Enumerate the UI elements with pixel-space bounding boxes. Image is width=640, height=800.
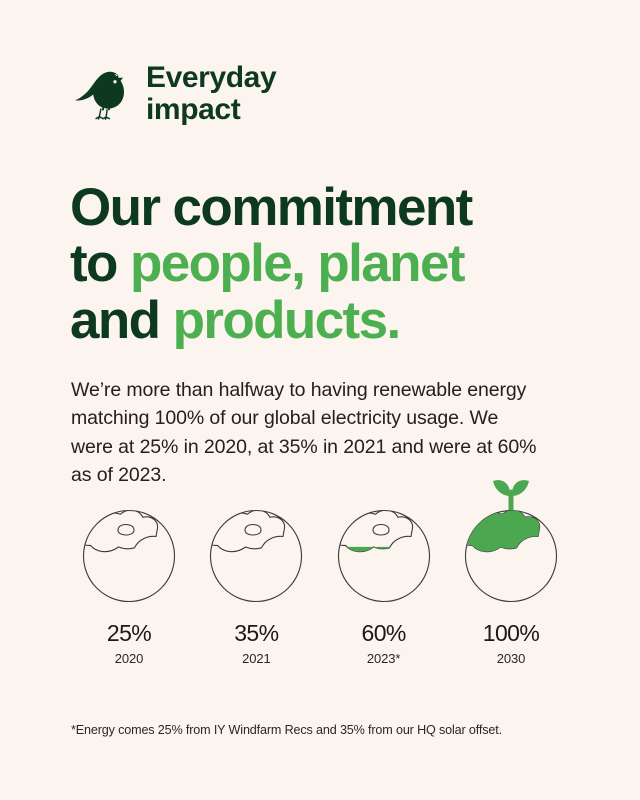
footnote: *Energy comes 25% from IY Windfarm Recs … xyxy=(71,722,571,740)
brand-wordmark: Everyday impact xyxy=(146,62,276,126)
brand-line-2: impact xyxy=(146,94,276,126)
globe-2030: 100%2030 xyxy=(452,470,570,665)
globe-illustration xyxy=(325,470,443,610)
globe-2021: 35%2021 xyxy=(197,470,315,665)
globe-year-label: 2020 xyxy=(115,652,144,665)
page-title: Our commitment to people, planet and pro… xyxy=(70,180,590,350)
globe-illustration xyxy=(452,470,570,610)
globe-year-label: 2030 xyxy=(497,652,526,665)
globe-illustration xyxy=(70,470,188,610)
globe-2020: 25%2020 xyxy=(70,470,188,665)
infographic-page: Everyday impact Our commitment to people… xyxy=(0,0,640,800)
landmass-outline xyxy=(202,510,285,552)
globe-percent-label: 25% xyxy=(107,622,151,645)
globe-year-label: 2023* xyxy=(367,652,400,665)
headline-line-2-dark: to xyxy=(70,234,130,293)
headline-line-3-dark: and xyxy=(70,291,173,350)
headline-line-2: to people, planet xyxy=(70,236,590,293)
headline-line-2-accent: people, planet xyxy=(130,234,464,293)
globe-outline xyxy=(211,511,302,602)
headline-line-3-accent: products. xyxy=(173,291,400,350)
globe-percent-label: 35% xyxy=(234,622,278,645)
landmass-outline xyxy=(329,510,412,552)
headline-line-1-text: Our commitment xyxy=(70,178,472,237)
globe-year-label: 2021 xyxy=(242,652,271,665)
globe-progression-chart: 25%202035%202160%2023*100%2030 xyxy=(70,470,570,665)
brand-lockup: Everyday impact xyxy=(72,62,276,126)
brand-line-1: Everyday xyxy=(146,62,276,94)
landmass-outline xyxy=(75,510,158,552)
island-outline xyxy=(373,525,389,536)
globe-percent-label: 100% xyxy=(483,622,539,645)
headline-line-3: and products. xyxy=(70,293,590,350)
globe-percent-label: 60% xyxy=(362,622,406,645)
island-outline xyxy=(245,525,261,536)
globe-2023: 60%2023* xyxy=(325,470,443,665)
globe-outline xyxy=(84,511,175,602)
island-outline xyxy=(118,525,134,536)
headline-line-1: Our commitment xyxy=(70,180,590,237)
bird-icon xyxy=(72,63,134,125)
globe-illustration xyxy=(197,470,315,610)
globe-outline xyxy=(338,511,429,602)
